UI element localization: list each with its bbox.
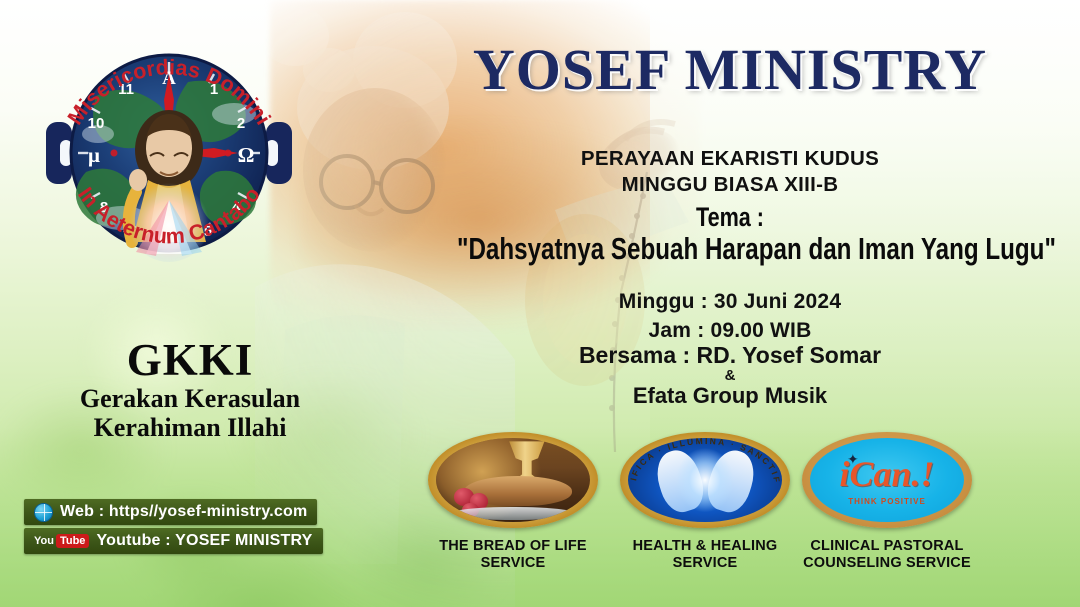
youtube-label: Youtube : YOSEF MINISTRY: [96, 532, 312, 550]
presenter-group: Efata Group Musik: [400, 384, 1060, 407]
services-row: THE BREAD OF LIFE SERVICE PURIFICA · ILL…: [420, 432, 1000, 602]
healing-hands-icon: PURIFICA · ILLUMINA · SANCTIFICA: [620, 432, 790, 528]
website-bar[interactable]: Web : https//yosef-ministry.com: [24, 499, 317, 525]
organization-block: GKKI Gerakan Kerasulan Kerahiman Illahi: [10, 336, 370, 442]
event-subheading-line1: PERAYAAN EKARISTI KUDUS: [400, 146, 1060, 172]
service-caption: CLINICAL PASTORAL COUNSELING SERVICE: [802, 538, 972, 572]
presenter-name: Bersama : RD. Yosef Somar: [400, 344, 1060, 367]
service-bread-of-life[interactable]: THE BREAD OF LIFE SERVICE: [428, 432, 598, 572]
service-caption: HEALTH & HEALING SERVICE: [620, 538, 790, 572]
ican-logo-icon: ✦ iCan.! THINK POSITIVE: [802, 432, 972, 528]
logo-mu-glyph: μ: [88, 143, 100, 167]
youtube-icon-you: You: [34, 535, 54, 547]
presenter-ampersand: &: [400, 367, 1060, 384]
theme-quote: "Dahsyatnya Sebuah Harapan dan Iman Yang…: [457, 232, 1003, 266]
youtube-icon: You Tube: [34, 534, 89, 548]
website-label: Web : https//yosef-ministry.com: [60, 503, 307, 521]
globe-icon: [34, 503, 53, 522]
organization-acronym: GKKI: [10, 336, 370, 384]
service-clinical-pastoral[interactable]: ✦ iCan.! THINK POSITIVE CLINICAL PASTORA…: [802, 432, 972, 572]
event-time: Jam : 09.00 WIB: [400, 316, 1060, 345]
logo-numeral-2: 2: [237, 115, 245, 132]
chalice-bread-icon: [428, 432, 598, 528]
youtube-icon-tube: Tube: [56, 534, 89, 548]
service-caption-line1: THE BREAD OF LIFE: [428, 538, 598, 555]
ican-wordmark: iCan.!: [810, 456, 964, 492]
service-health-healing[interactable]: PURIFICA · ILLUMINA · SANCTIFICA HEALTH …: [620, 432, 790, 572]
service-caption-line2: SERVICE: [428, 555, 598, 572]
gkki-emblem-logo: 1 2 4 5 7 8 10 11 A Ω μ ψ: [38, 22, 300, 284]
service-caption-line2: COUNSELING SERVICE: [802, 555, 972, 572]
event-presenters: Bersama : RD. Yosef Somar & Efata Group …: [400, 344, 1060, 407]
page-title: YOSEF MINISTRY: [400, 36, 1060, 103]
service-caption-line2: SERVICE: [620, 555, 790, 572]
logo-omega-glyph: Ω: [238, 143, 255, 167]
service-caption-line1: HEALTH & HEALING: [620, 538, 790, 555]
event-schedule: Minggu : 30 Juni 2024 Jam : 09.00 WIB: [400, 287, 1060, 345]
organization-name-line2: Kerahiman Illahi: [10, 413, 370, 442]
event-date: Minggu : 30 Juni 2024: [400, 287, 1060, 316]
ican-tagline: THINK POSITIVE: [810, 497, 964, 506]
organization-name-line1: Gerakan Kerasulan: [10, 384, 370, 413]
healing-ring-text: PURIFICA · ILLUMINA · SANCTIFICA: [620, 432, 790, 528]
youtube-bar[interactable]: You Tube Youtube : YOSEF MINISTRY: [24, 528, 323, 554]
theme-label: Tema :: [466, 203, 994, 232]
event-subheading: PERAYAAN EKARISTI KUDUS MINGGU BIASA XII…: [400, 146, 1060, 198]
service-caption-line1: CLINICAL PASTORAL: [802, 538, 972, 555]
service-caption: THE BREAD OF LIFE SERVICE: [428, 538, 598, 572]
svg-text:PURIFICA · ILLUMINA · SANCTIFI: PURIFICA · ILLUMINA · SANCTIFICA: [620, 432, 782, 485]
poster-canvas: 1 2 4 5 7 8 10 11 A Ω μ ψ: [0, 0, 1080, 607]
event-subheading-line2: MINGGU BIASA XIII-B: [400, 172, 1060, 198]
